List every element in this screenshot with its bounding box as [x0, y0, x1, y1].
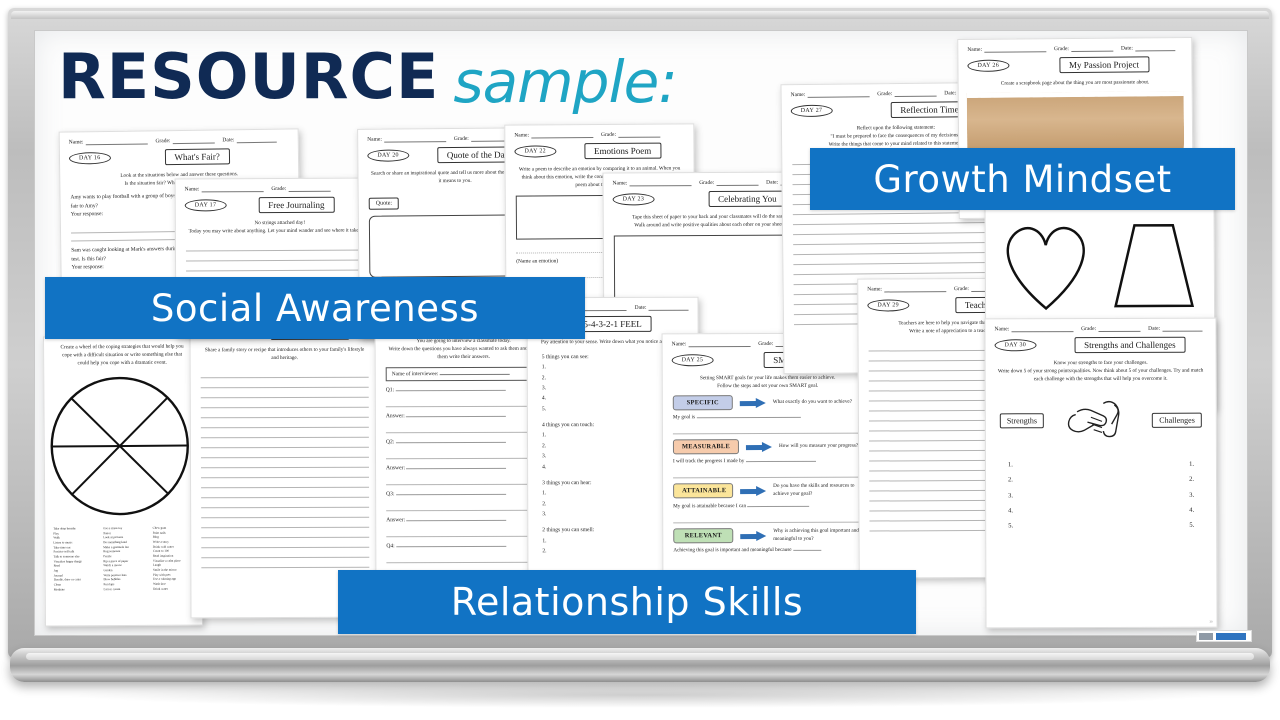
day26-title: My Passion Project — [1059, 56, 1149, 73]
day21-interviewee-label: Name of interviewee: — [392, 371, 439, 377]
day17-badge: DAY 17 — [185, 199, 227, 211]
label-name: Name: — [994, 326, 1009, 332]
banner-relationship-skills: Relationship Skills — [338, 570, 916, 634]
day21-q1-label: Q1: — [386, 387, 394, 393]
label-name: Name: — [867, 286, 882, 292]
day21-q4[interactable]: Q4: — [376, 537, 552, 550]
smart-pill-relevant: RELEVANT — [673, 528, 733, 543]
clasped-hands-icon — [1063, 391, 1133, 449]
day17-instruction: No strings attached day! Today you may w… — [176, 212, 384, 235]
smart-attainable-line[interactable] — [663, 508, 873, 523]
day21-q3-label: Q3: — [386, 491, 394, 497]
smart-sub-label: My goal is — [673, 414, 697, 420]
arrow-right-icon — [746, 443, 772, 451]
day21-q2-label: Q2: — [386, 439, 394, 445]
day30-badge-row: DAY 30 Strengths and Challenges — [986, 332, 1216, 354]
day21-a1[interactable]: Answer: — [376, 407, 552, 420]
day30-challenge-numbers: 1. 2. 3. 4. 5. — [1189, 457, 1194, 533]
coping-col-1: Take deep breathsPlayWalkListen to music… — [53, 526, 94, 591]
list-item: 2. — [1008, 473, 1013, 488]
day21-interviewee-field[interactable]: Name of interviewee: — [386, 367, 542, 382]
banner-social-awareness: Social Awareness — [45, 277, 585, 339]
day21-q4-label: Q4: — [386, 543, 394, 549]
day25-badge: DAY 25 — [672, 354, 714, 366]
day30-strength-numbers: 1. 2. 3. 4. 5. — [1008, 457, 1013, 533]
tray-shadow — [60, 682, 1220, 708]
coping-col-2: Use a stress toyDanceLook at picturesDo … — [103, 526, 144, 591]
day23-title: Celebrating You — [708, 191, 787, 207]
smart-sub-label: My goal is attainable because I can — [673, 503, 747, 509]
list-item: 1. — [1008, 457, 1013, 472]
strengths-label: Strengths — [1000, 413, 1044, 428]
list-item: 1. — [1189, 457, 1194, 472]
day21-a3[interactable]: Answer: — [376, 511, 552, 524]
label-name: Name: — [791, 92, 806, 98]
smart-question-relevant: Why is achieving this goal important and… — [773, 527, 863, 543]
smart-row-relevant: RELEVANT Why is achieving this goal impo… — [663, 522, 873, 543]
label-grade: Grade: — [271, 186, 286, 192]
smart-sub-relevant[interactable]: Achieving this goal is important and mea… — [663, 543, 873, 554]
day22-badge-row: DAY 22 Emotions Poem — [505, 137, 693, 159]
label-grade: Grade: — [877, 91, 892, 97]
label-grade: Grade: — [1054, 46, 1069, 52]
smart-pill-attainable: ATTAINABLE — [673, 484, 733, 499]
label-name: Name: — [967, 47, 982, 53]
arrow-right-icon — [740, 487, 766, 495]
day21-q4-line[interactable] — [376, 549, 552, 564]
smart-row-specific: SPECIFIC What exactly do you want to ach… — [663, 390, 873, 411]
day21-a1-line[interactable] — [376, 419, 552, 434]
label-name: Name: — [185, 186, 200, 192]
day16-badge: DAY 16 — [69, 152, 111, 165]
page-title: RESOURCE sample: — [58, 48, 677, 107]
label-grade: Grade: — [954, 286, 969, 292]
label-grade: Grade: — [699, 180, 714, 186]
label-grade: Grade: — [601, 132, 616, 138]
label-answer: Answer: — [386, 465, 405, 471]
day30-instruction: Know your strengths to face your challen… — [986, 353, 1216, 384]
smart-pill-specific: SPECIFIC — [673, 395, 733, 410]
day23-badge: DAY 23 — [613, 193, 655, 205]
day17-title: Free Journaling — [258, 197, 334, 213]
label-grade: Grade: — [454, 136, 469, 142]
label-grade: Grade: — [1081, 326, 1096, 332]
coping-col-3: Chew gumPaint nailsBlogWrite a storyDrin… — [153, 526, 194, 591]
banner-growth-mindset: Growth Mindset — [810, 148, 1235, 210]
label-name: Name: — [514, 132, 529, 138]
label-date: Date: — [635, 305, 647, 311]
torn-paper-graphic — [967, 91, 1185, 153]
day20-quote-label: Quote: — [369, 198, 399, 210]
day21-q1[interactable]: Q1: — [376, 381, 552, 394]
day30-header: Name: Grade: Date: — [985, 319, 1215, 333]
smart-row-measurable: MEASURABLE How will you measure your pro… — [663, 434, 873, 455]
smart-specific-line[interactable] — [663, 420, 873, 435]
label-answer: Answer: — [386, 413, 405, 419]
day30-strength-challenge-row: Strengths Challenges — [986, 383, 1216, 450]
label-grade: Grade: — [155, 138, 170, 144]
label-name: Name: — [672, 341, 687, 347]
whiteboard-brand-logo — [1196, 630, 1252, 642]
list-item: 5. — [1008, 519, 1013, 534]
list-item: 4. — [1189, 503, 1194, 518]
smart-measurable-line[interactable] — [663, 464, 873, 479]
day17-badge-row: DAY 17 Free Journaling — [176, 191, 384, 213]
day21-q3-line[interactable] — [376, 497, 552, 512]
label-grade: Grade: — [758, 341, 773, 347]
arrow-right-icon — [740, 532, 766, 540]
day21-a2-line[interactable] — [376, 471, 552, 486]
day22-title: Emotions Poem — [584, 143, 661, 160]
title-sample: sample: — [453, 53, 676, 111]
smart-sub-label: Achieving this goal is important and mea… — [673, 547, 793, 553]
day19-lines[interactable] — [191, 362, 380, 569]
day26-instruction: Create a scrapbook page about the thing … — [959, 72, 1192, 88]
coping-word-columns: Take deep breathsPlayWalkListen to music… — [45, 521, 201, 592]
label-name: Name: — [69, 139, 84, 145]
day22-badge: DAY 22 — [514, 145, 556, 157]
list-item: 5. — [1189, 518, 1194, 533]
worksheet-day18[interactable]: Create a wheel of the coping strategies … — [43, 335, 203, 626]
list-item: 4. — [1008, 503, 1013, 518]
day22-header: Name: Grade: — [505, 124, 693, 138]
day17-header: Name: Grade: — [176, 178, 384, 192]
day30-badge: DAY 30 — [995, 339, 1037, 351]
day27-badge: DAY 27 — [791, 105, 833, 117]
arrow-right-icon — [740, 399, 766, 407]
day21-a2[interactable]: Answer: — [376, 459, 552, 472]
label-name: Name: — [367, 137, 382, 143]
smart-row-attainable: ATTAINABLE Do you have the skills and re… — [663, 478, 873, 499]
title-resource: RESOURCE — [58, 48, 439, 107]
day30-numbers: 1. 2. 3. 4. 5. 1. 2. 3. 4. 5. — [986, 449, 1216, 534]
day26-badge: DAY 26 — [967, 60, 1009, 72]
list-item: 3. — [1008, 488, 1013, 503]
list-item: 2. — [1189, 472, 1194, 487]
trapezoid-shape-icon — [1106, 216, 1203, 313]
list-item: 3. — [1189, 487, 1194, 502]
smart-pill-measurable: MEASURABLE — [673, 439, 739, 454]
label-name: Name: — [613, 180, 628, 186]
whiteboard-marker-tray — [10, 648, 1270, 682]
label-date: Date: — [222, 137, 234, 143]
smart-question-attainable: Do you have the skills and resources to … — [773, 483, 863, 499]
day29-badge: DAY 29 — [867, 299, 909, 311]
day21-a3-line[interactable] — [376, 523, 552, 538]
label-date: Date: — [1148, 326, 1160, 332]
smart-question-specific: What exactly do you want to achieve? — [773, 398, 852, 406]
label-answer: Answer: — [386, 517, 405, 523]
label-date: Date: — [766, 180, 778, 186]
day21-q2-line[interactable] — [376, 445, 552, 460]
coping-wheel-diagram — [44, 371, 201, 522]
day18-instruction: Create a wheel of the coping strategies … — [44, 336, 200, 367]
day26-badge-row: DAY 26 My Passion Project — [958, 51, 1191, 74]
label-date: Date: — [1121, 45, 1133, 51]
day21-q2[interactable]: Q2: — [376, 433, 552, 446]
day26-header: Name: Grade: Date: — [958, 38, 1191, 53]
smart-sub-label: I will track the progress I made by — [673, 458, 746, 464]
day24-title: 5-4-3-2-1 FEEL — [573, 316, 651, 332]
day28-shapes — [986, 208, 1215, 313]
day19-instruction: Share a family story or recipe that intr… — [191, 340, 379, 363]
day21-q3[interactable]: Q3: — [376, 485, 552, 498]
day20-badge: DAY 20 — [367, 149, 409, 161]
worksheet-day30[interactable]: Name: Grade: Date: DAY 30 Strengths and … — [984, 318, 1217, 629]
day21-q1-line[interactable] — [376, 393, 552, 408]
day16-title: What's Fair? — [164, 148, 230, 165]
heart-shape-icon — [998, 216, 1095, 313]
day30-title: Strengths and Challenges — [1074, 337, 1186, 353]
challenges-label: Challenges — [1152, 412, 1202, 427]
label-date: Date: — [944, 90, 956, 96]
sheet-corner-mark: 30 — [1210, 620, 1213, 624]
whiteboard-scene: Create a wheel of the coping strategies … — [0, 0, 1280, 720]
smart-question-measurable: How will you measure your progress? — [779, 442, 858, 450]
